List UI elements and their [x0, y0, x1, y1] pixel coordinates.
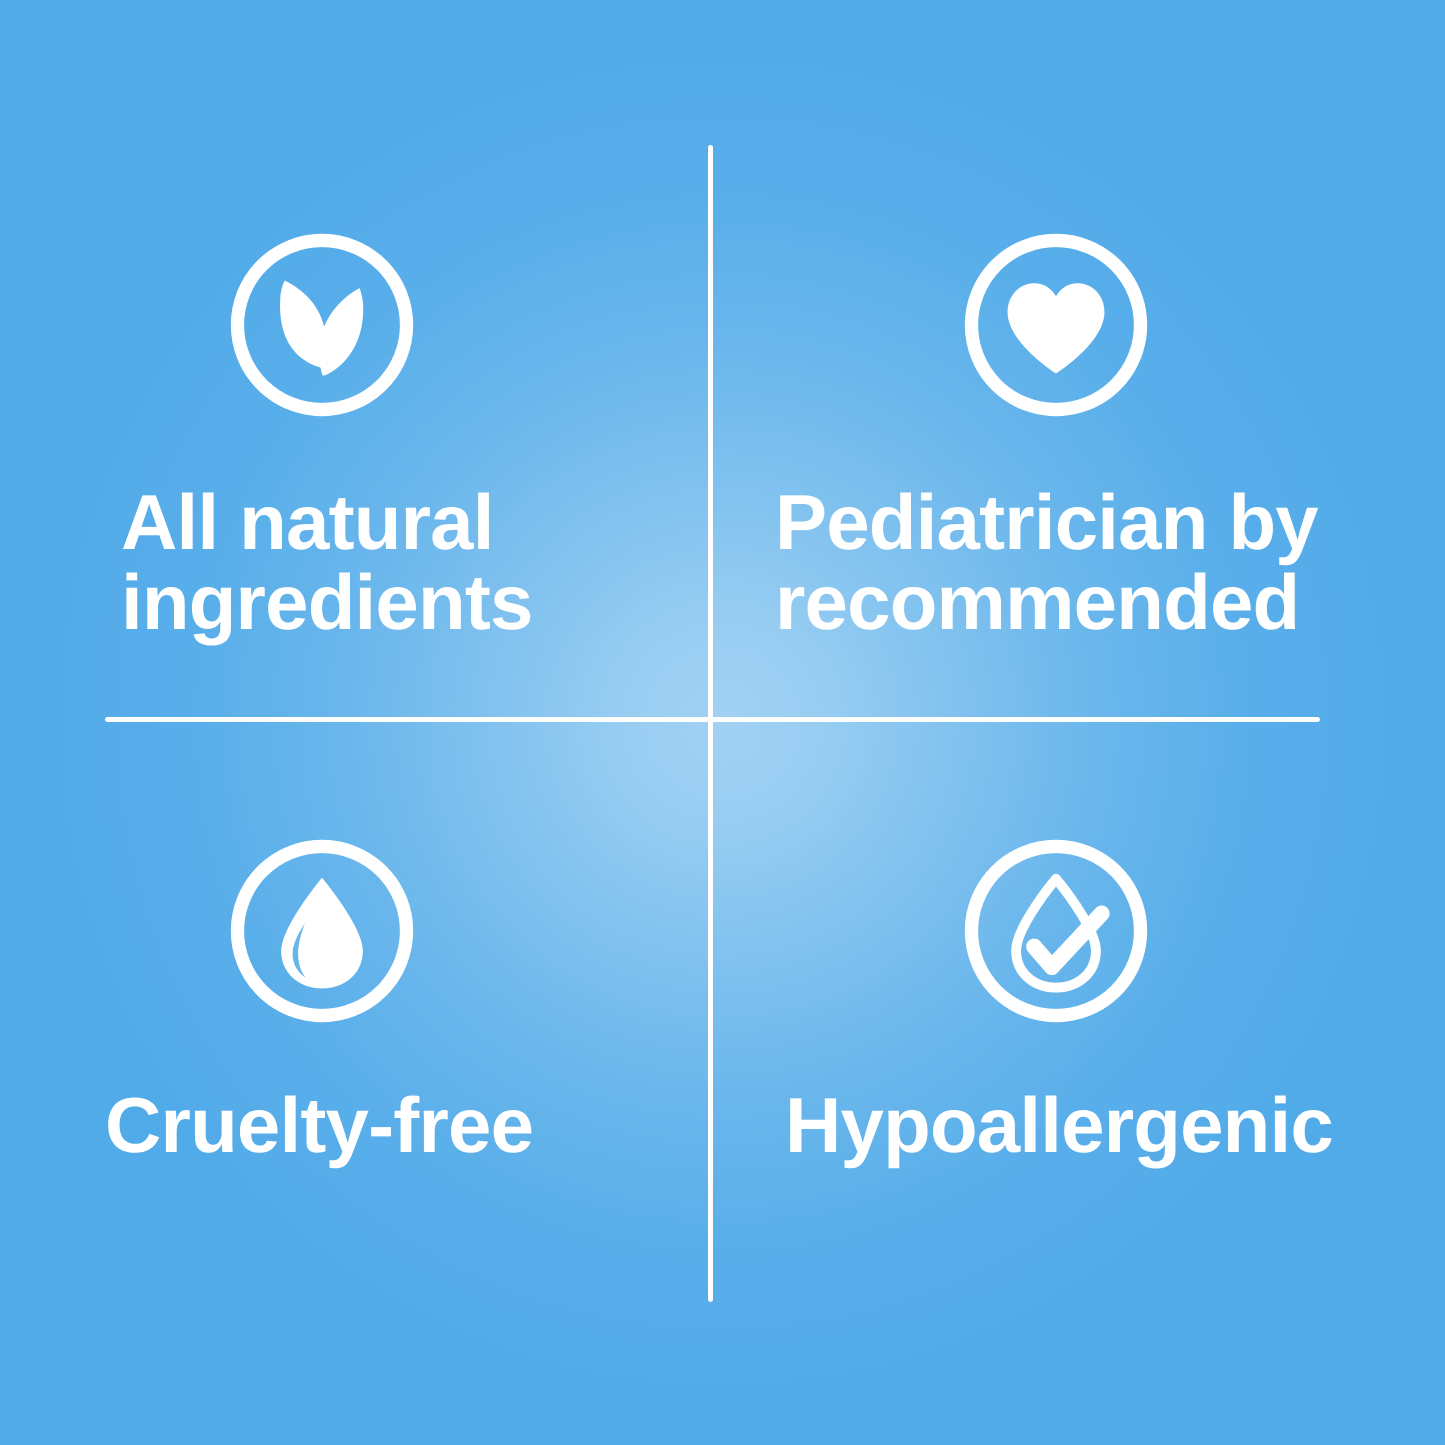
feature-label-pediatrician-recommended: Pediatrician by recommended — [775, 483, 1318, 642]
feature-label-cruelty-free: Cruelty-free — [105, 1086, 533, 1166]
feature-cell-all-natural-ingredients: All natural ingredients — [105, 145, 708, 717]
feature-label-all-natural-ingredients: All natural ingredients — [121, 483, 533, 642]
feature-label-hypoallergenic: Hypoallergenic — [785, 1086, 1333, 1166]
water-drop-check-in-circle-icon — [961, 836, 1151, 1026]
benefits-infographic: All natural ingredients Pediatrician by … — [0, 0, 1445, 1445]
leaves-in-circle-icon — [227, 230, 417, 420]
water-drop-in-circle-icon — [227, 836, 417, 1026]
feature-cell-cruelty-free: Cruelty-free — [105, 722, 708, 1302]
heart-in-circle-icon — [961, 230, 1151, 420]
feature-cell-hypoallergenic: Hypoallergenic — [713, 722, 1320, 1302]
feature-cell-pediatrician-recommended: Pediatrician by recommended — [713, 145, 1320, 717]
